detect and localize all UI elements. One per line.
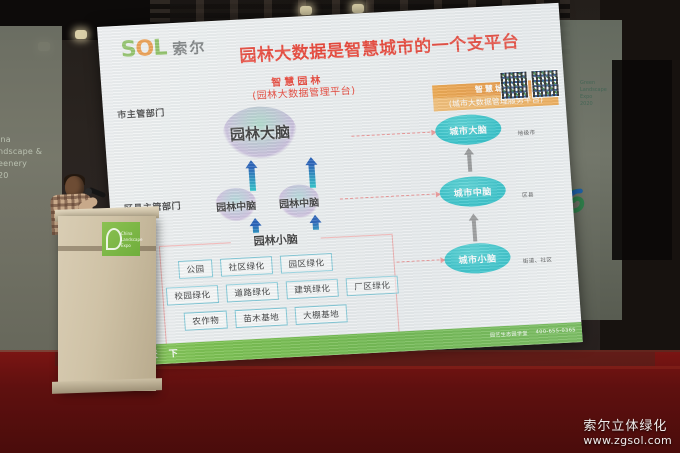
spotlight-4 [352,4,364,13]
connector-big-brain [351,131,435,136]
tile-park[interactable]: 公园 [178,259,213,279]
tile-community-greening[interactable]: 社区绿化 [220,256,273,277]
tile-greenhouse-base[interactable]: 大棚基地 [295,304,348,325]
sol-logo-chinese: 索尔 [172,36,207,59]
sol-logo-mark: SOL [120,37,167,61]
footer-right-group: 园艺生态园学堂 400-655-0365 [490,327,576,338]
qr-code-1 [499,71,529,100]
watermark-brand: 索尔立体绿化 [583,415,672,434]
floor-highlight-strip [140,366,680,369]
city-scale-label-2: 区县 [522,190,534,199]
photo-scene: ina ndscape & eenery 20 GreenLandscapeEx… [0,0,680,453]
projection-screen: SOL 索尔 园林大数据是智慧城市的一个支平台 智慧园林 (园林大数据管理平台)… [97,3,583,366]
city-scale-label-1: 地级市 [517,128,535,137]
arrow-mid-right-to-big [308,164,316,188]
label-city-department: 市主管部门 [117,106,165,121]
city-small-brain-oval[interactable]: 城市小脑 [443,242,511,275]
city-scale-label-3: 街道、社区 [523,255,553,265]
tile-building-greening[interactable]: 建筑绿化 [286,279,339,300]
microphone-head [85,188,92,195]
podium-logo-panel: ChinaLandscapeExpo [102,222,140,256]
garden-mid-brain-left-label: 园林中脑 [204,196,269,214]
garden-mid-brain-right-label: 园林中脑 [267,193,332,211]
qr-code-2 [530,69,560,98]
tile-nursery-base[interactable]: 苗木基地 [235,307,288,328]
arrow-city-small-to-mid [472,219,478,241]
podium-panel-text: ChinaLandscapeExpo [121,231,143,249]
watermark: 索尔立体绿化 www.zgsol.com [583,415,672,447]
footer-phone: 400-655-0365 [536,327,577,336]
slide-subtitle-secondary: (园林大数据管理平台) [252,82,356,102]
tile-road-greening[interactable]: 道路绿化 [226,282,279,303]
spotlight-2 [75,30,87,39]
left-banner-line-3: eenery [0,158,64,170]
left-banner-line-1: ina [0,134,64,146]
footer-org-name: 园艺生态园学堂 [490,330,528,339]
left-banner-text: ina ndscape & eenery 20 [0,134,64,182]
city-mid-brain-oval[interactable]: 城市中脑 [439,175,507,208]
sol-logo-o: O [135,36,154,62]
arrow-city-mid-to-big [467,154,472,172]
presentation-slide: SOL 索尔 园林大数据是智慧城市的一个支平台 智慧园林 (园林大数据管理平台)… [97,3,583,366]
tile-crops[interactable]: 农作物 [184,311,228,331]
garden-big-brain-label: 园林大脑 [222,121,297,146]
tile-campus-greening[interactable]: 校园绿化 [166,285,219,306]
city-big-brain-oval[interactable]: 城市大脑 [434,113,502,146]
tile-park-area-greening[interactable]: 园区绿化 [280,253,333,274]
tile-factory-greening[interactable]: 厂区绿化 [346,276,399,297]
arrow-mid-left-to-big [248,167,256,191]
connector-small-brain [397,259,445,263]
spotlight-3 [300,6,312,15]
background-doorway [612,60,672,260]
left-banner-line-4: 20 [0,170,64,182]
left-banner-line-2: ndscape & [0,146,64,158]
right-wall-logo-text: GreenLandscapeExpo2020 [580,80,607,108]
sol-logo-l: L [152,35,167,61]
podium-leaf-icon [106,228,122,250]
watermark-url: www.zgsol.com [583,434,672,447]
left-wall-banner: ina ndscape & eenery 20 [0,26,62,356]
connector-mid-brain [340,193,440,199]
sol-logo: SOL 索尔 [120,35,207,61]
slide-title: 园林大数据是智慧城市的一个支平台 [239,29,560,68]
